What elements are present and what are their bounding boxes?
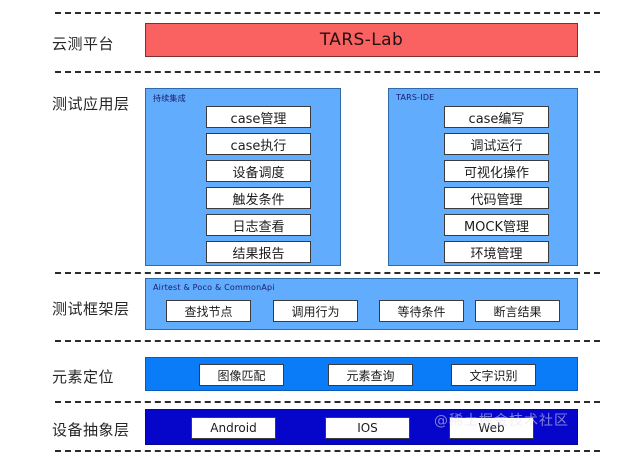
band-element-location: 图像匹配 元素查询 文字识别 — [145, 357, 578, 391]
band-title-tars-lab: TARS-Lab — [146, 24, 577, 56]
divider-app-framework — [55, 272, 600, 274]
band-device-abstraction: Android IOS Web @稀土掘金技术社区 — [145, 409, 578, 445]
divider-framework-element — [55, 340, 600, 342]
chip-device-scheduling[interactable]: 设备调度 — [206, 160, 311, 182]
divider-element-device — [55, 401, 600, 403]
chip-wait-condition[interactable]: 等待条件 — [379, 300, 464, 322]
chip-image-matching[interactable]: 图像匹配 — [199, 364, 284, 386]
chip-ios[interactable]: IOS — [325, 417, 410, 439]
divider-top — [55, 12, 600, 14]
chip-find-node[interactable]: 查找节点 — [166, 300, 251, 322]
chip-case-authoring[interactable]: case编写 — [444, 106, 549, 128]
chip-code-management[interactable]: 代码管理 — [444, 187, 549, 209]
group-caption-tars-ide: TARS-IDE — [396, 93, 434, 102]
group-caption-continuous-integration: 持续集成 — [153, 93, 186, 104]
chip-text-recognition[interactable]: 文字识别 — [451, 364, 536, 386]
chip-visual-operation[interactable]: 可视化操作 — [444, 160, 549, 182]
divider-bottom — [55, 450, 600, 452]
group-continuous-integration: 持续集成 case管理 case执行 设备调度 触发条件 日志查看 结果报告 — [145, 88, 341, 266]
layer-label-element-location: 元素定位 — [52, 366, 144, 387]
chip-trigger-condition[interactable]: 触发条件 — [206, 187, 311, 209]
chip-android[interactable]: Android — [191, 417, 276, 439]
layer-label-cloud-platform: 云测平台 — [52, 33, 144, 54]
chip-assert-result[interactable]: 断言结果 — [475, 300, 560, 322]
chip-result-report[interactable]: 结果报告 — [206, 241, 311, 263]
chip-case-management[interactable]: case管理 — [206, 106, 311, 128]
chip-case-execution[interactable]: case执行 — [206, 133, 311, 155]
layer-label-device-abstraction: 设备抽象层 — [52, 419, 144, 440]
chip-log-view[interactable]: 日志查看 — [206, 214, 311, 236]
band-cloud-platform: TARS-Lab — [145, 23, 578, 57]
chip-debug-run[interactable]: 调试运行 — [444, 133, 549, 155]
layer-label-test-application: 测试应用层 — [52, 93, 144, 114]
layer-label-test-framework: 测试框架层 — [52, 298, 144, 319]
chip-element-query[interactable]: 元素查询 — [328, 364, 413, 386]
chip-web[interactable]: Web — [449, 417, 534, 439]
chip-mock-management[interactable]: MOCK管理 — [444, 214, 549, 236]
architecture-diagram: 云测平台 TARS-Lab 测试应用层 持续集成 case管理 case执行 设… — [0, 0, 620, 459]
band-test-framework: Airtest & Poco & CommonApi 查找节点 调用行为 等待条… — [145, 278, 578, 330]
group-tars-ide: TARS-IDE case编写 调试运行 可视化操作 代码管理 MOCK管理 环… — [388, 88, 578, 266]
chip-invoke-action[interactable]: 调用行为 — [273, 300, 358, 322]
chip-environment-management[interactable]: 环境管理 — [444, 241, 549, 263]
group-caption-airtest-poco-commonapi: Airtest & Poco & CommonApi — [153, 283, 275, 292]
divider-cloud-app — [55, 71, 600, 73]
